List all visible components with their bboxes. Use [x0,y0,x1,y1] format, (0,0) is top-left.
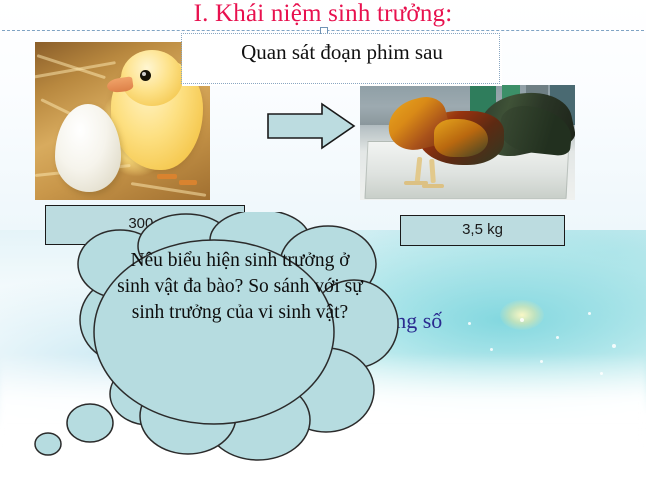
background-sparkle [468,322,471,325]
background-sparkle [540,360,543,363]
rooster-wing [434,119,488,157]
background-light-flare [500,300,544,330]
background-sparkle [520,318,524,322]
thought-bubble-question: Nêu biểu hiện sinh trưởng ở sinh vật đa … [115,248,365,326]
rooster-photo [360,85,575,200]
background-sparkle [600,372,603,375]
page-title: I. Khái niệm sinh trưởng: [0,0,646,28]
background-sparkle [556,336,559,339]
chick-foot [179,180,197,185]
caption-selection-border [181,33,500,84]
background-sparkle [490,348,493,351]
background-sparkle [588,312,591,315]
arrow-shape [268,104,354,148]
presentation-slide: I. Khái niệm sinh trưởng: [0,0,646,485]
growth-arrow [266,102,356,150]
chick-foot [157,174,177,179]
background-sparkle [612,344,616,348]
rooster-foot [422,184,444,188]
chick-eye [140,70,151,81]
